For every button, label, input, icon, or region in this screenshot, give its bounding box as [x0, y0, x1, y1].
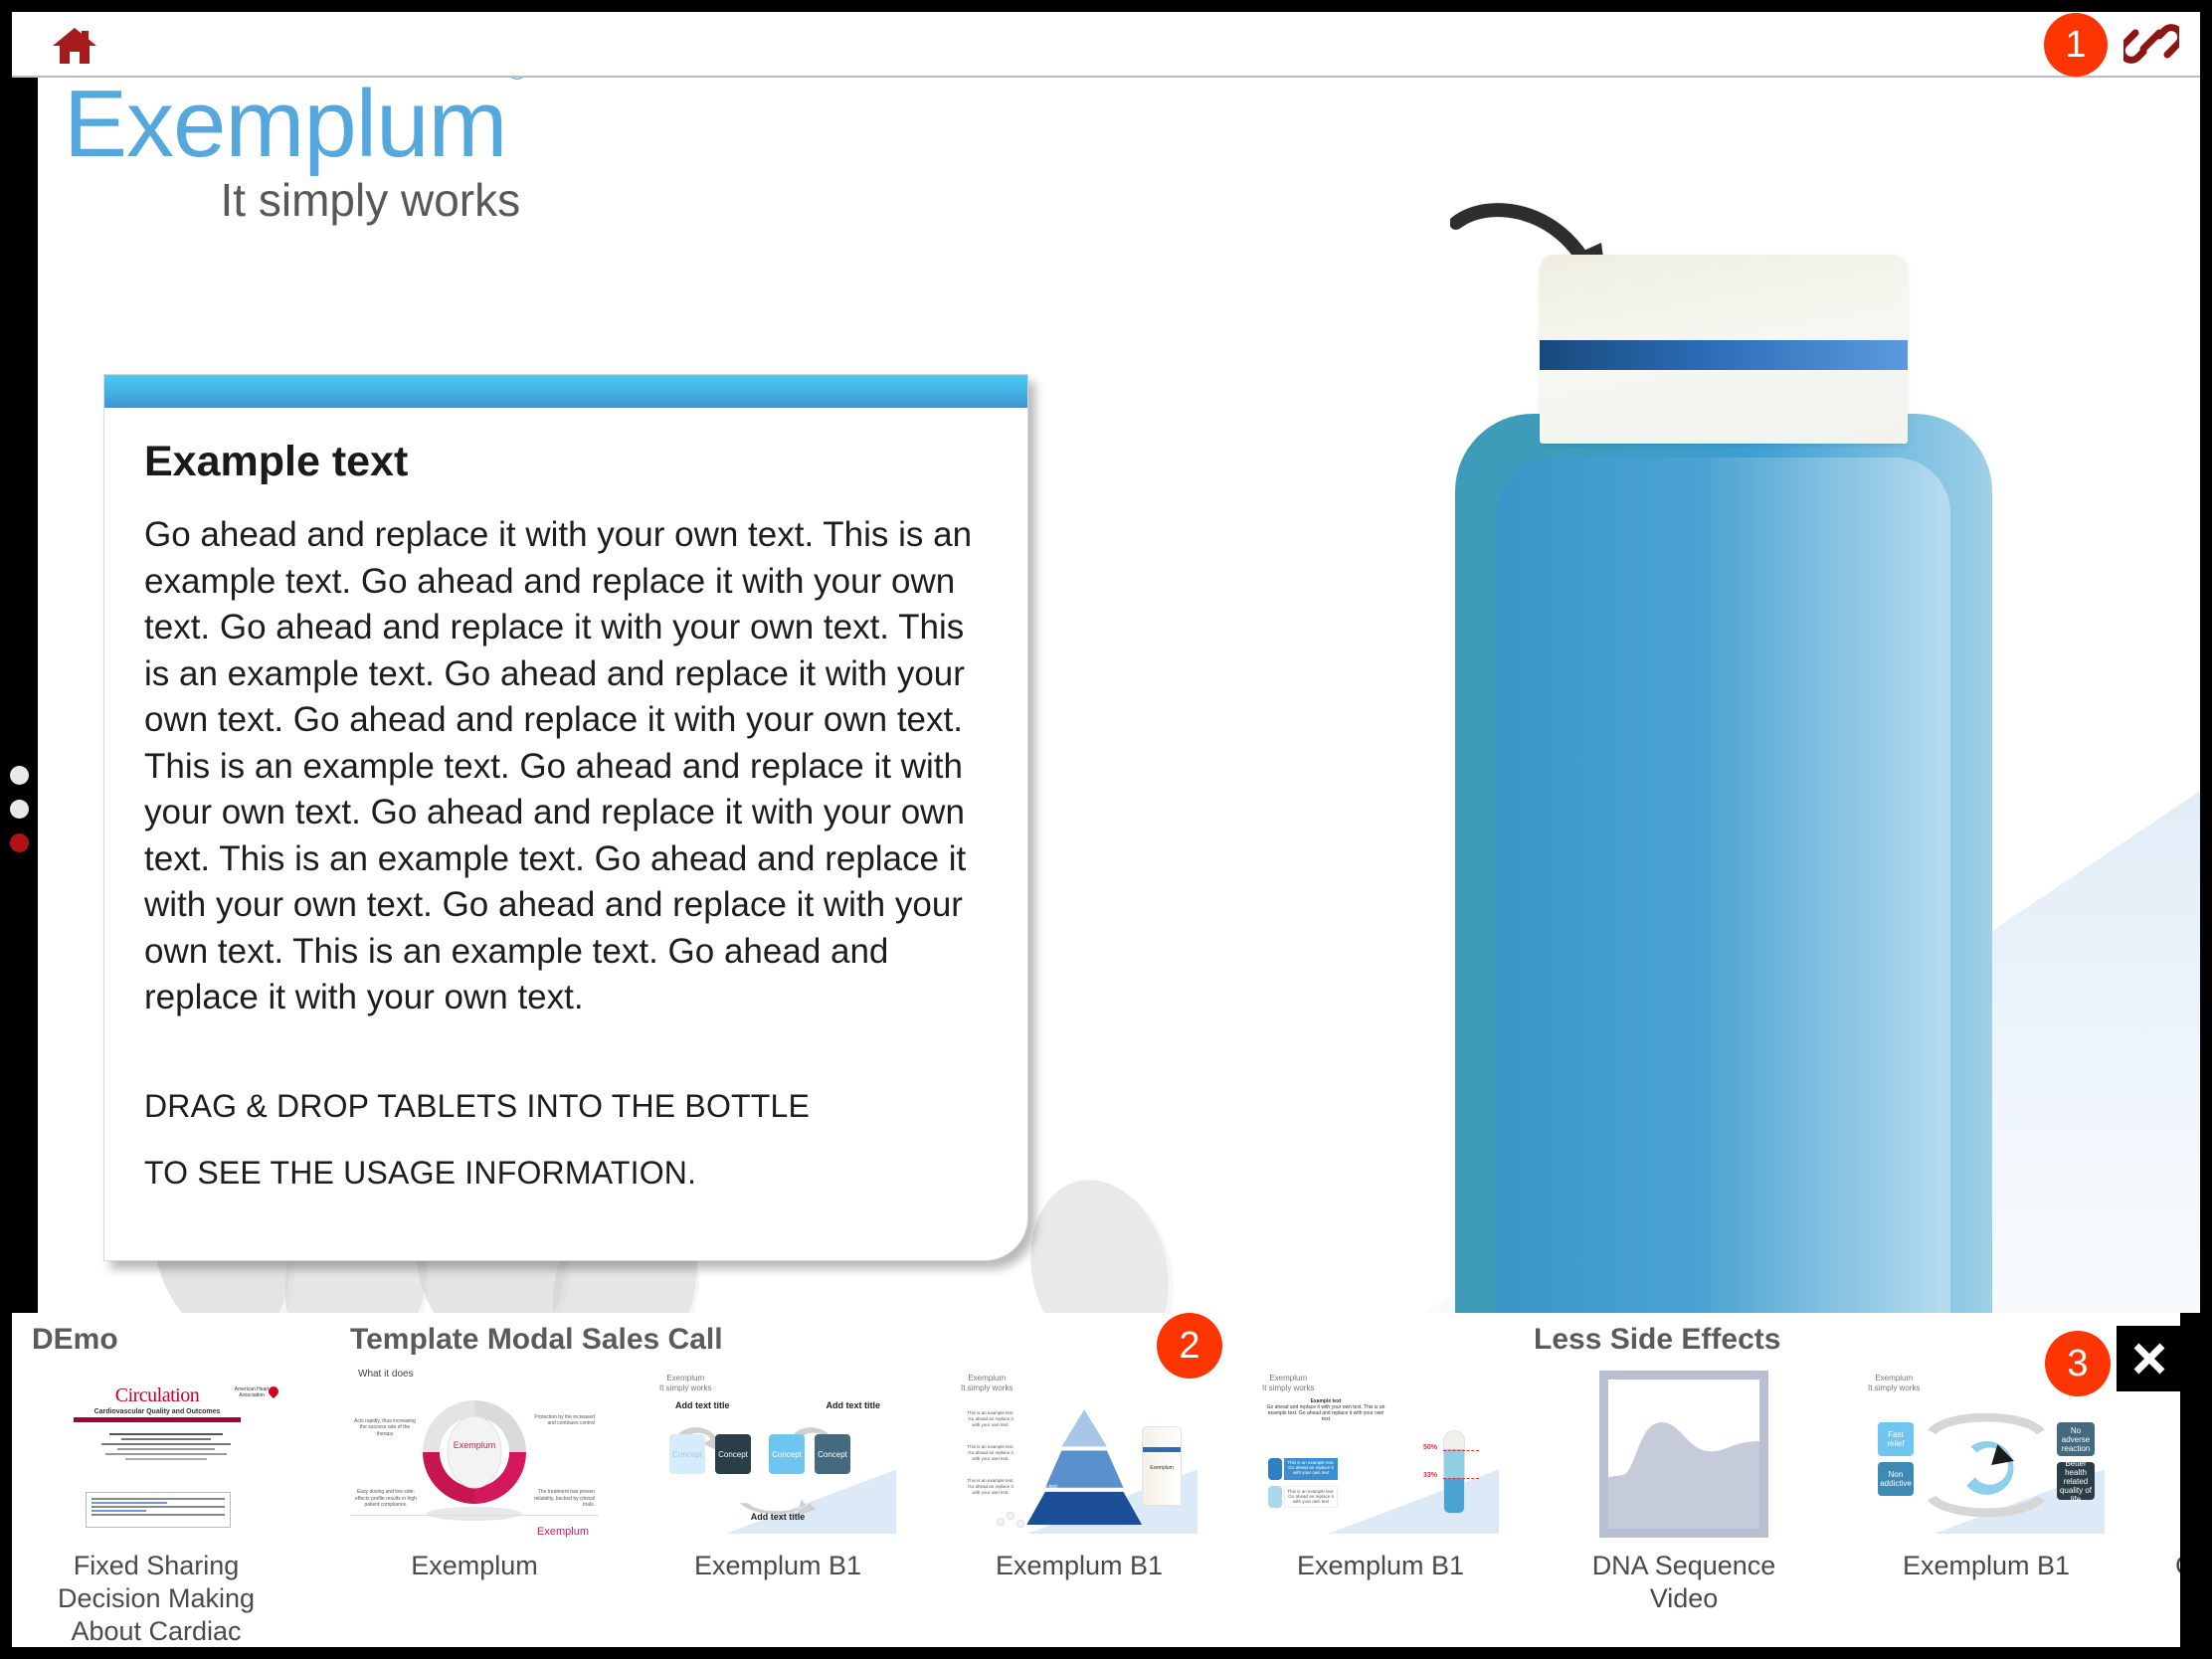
slide-filmstrip[interactable]: DEmo Template Modal Sales Call Less Side… — [12, 1313, 2180, 1647]
thumb-pyramid-bottle: ExemplumIt simply works Example text Exa… — [955, 1363, 1203, 1542]
pagination-dot-1[interactable] — [10, 766, 29, 785]
filmstrip-item-label: Genera respon different — [2140, 1550, 2180, 1615]
thumb-text: Example text — [1030, 1450, 1059, 1456]
bottle-body — [1455, 414, 1992, 1313]
filmstrip-item-label: Exemplum B1 — [1256, 1550, 1505, 1582]
thumb-brand: ExemplumIt simply works — [1868, 1369, 1920, 1392]
thumb-box: Fast relief — [1878, 1422, 1914, 1456]
thumb-text: This is an example text. Go ahead an rep… — [965, 1410, 1016, 1428]
slide-canvas: Exemplum® It simply works Example text G… — [38, 78, 2200, 1313]
thumb-box: Concept — [815, 1434, 850, 1474]
thumb-pct: 33% — [1423, 1472, 1437, 1479]
tablet-watermark — [1013, 1165, 1188, 1313]
placeholder-frame — [1599, 1371, 1768, 1538]
journal-title: Circulation — [74, 1384, 241, 1407]
pagination-dot-3-active[interactable] — [10, 833, 29, 852]
donut-center-label: Exemplum — [446, 1440, 503, 1450]
thumb-brand: ExemplumIt simply works — [659, 1369, 711, 1392]
thumb-text: Add text title — [659, 1512, 896, 1522]
thumb-concept-arrows: ExemplumIt simply works Add text title A… — [653, 1363, 902, 1542]
thumb-box: No adverse reaction — [2057, 1422, 2095, 1456]
top-toolbar — [12, 12, 2200, 78]
thumb-text: This is an example text. Go ahead an rep… — [1284, 1458, 1338, 1480]
filmstrip-item-label: Exemplum B1 — [653, 1550, 902, 1582]
thumb-circular-diagram: What it does Exemplum Acts rapidly, thus… — [350, 1363, 599, 1542]
thumb-text: Example textGo ahead and replace it with… — [1266, 1398, 1385, 1422]
thumb-brand: Exemplum — [537, 1526, 589, 1538]
drag-drop-instruction-line-1: DRAG & DROP TABLETS INTO THE BOTTLE — [144, 1073, 982, 1140]
app-root: Exemplum® It simply works Example text G… — [0, 0, 2212, 1659]
filmstrip-item-pyramid[interactable]: ExemplumIt simply works Example text Exa… — [955, 1363, 1203, 1582]
journal-subtitle: Cardiovascular Quality and Outcomes — [74, 1408, 241, 1415]
thumb-box: Concept — [669, 1434, 705, 1474]
thumb-text: Example text — [1028, 1484, 1057, 1490]
thumb-box: Concept — [769, 1434, 805, 1474]
filmstrip-item-label: Exemplum — [350, 1550, 599, 1582]
filmstrip-group-title-side-effects: Less Side Effects — [1534, 1323, 1780, 1357]
thumb-canvas: Add text title Add text title Concept Co… — [659, 1396, 896, 1534]
filmstrip-track[interactable]: DEmo Template Modal Sales Call Less Side… — [12, 1313, 2180, 1647]
callout-text: Protection by the increased and continue… — [533, 1414, 595, 1427]
thumb-text: This is an example text. Go ahead an rep… — [1284, 1486, 1338, 1508]
filmstrip-item-truncated[interactable]: Genera respon different — [2140, 1363, 2180, 1615]
thumb-box: Concept — [715, 1434, 751, 1474]
filmstrip-item-tube[interactable]: ExemplumIt simply works Example textGo a… — [1256, 1363, 1505, 1582]
thumb-canvas: Example textGo ahead and replace it with… — [1262, 1396, 1499, 1534]
thumb-box — [1268, 1486, 1282, 1508]
thumb-box: Non addictive — [1878, 1462, 1914, 1496]
brand-logo: Exemplum® It simply works — [64, 78, 526, 227]
journal-abstract-box — [86, 1492, 231, 1528]
bottle-cap — [1540, 255, 1908, 444]
thumb-box — [1268, 1458, 1282, 1480]
filmstrip-item-journal[interactable]: Circulation Cardiovascular Quality and O… — [32, 1363, 280, 1647]
thumb-tube-percent: ExemplumIt simply works Example textGo a… — [1256, 1363, 1505, 1542]
window-frame-left — [0, 78, 38, 1313]
thumb-brand: ExemplumIt simply works — [961, 1369, 1013, 1392]
step-badge-3: 3 — [2045, 1331, 2111, 1396]
thumb-pct: 50% — [1423, 1444, 1437, 1451]
filmstrip-item-exemplum-circle[interactable]: What it does Exemplum Acts rapidly, thus… — [350, 1363, 599, 1582]
filmstrip-item-label: Exemplum B1 — [1862, 1550, 2111, 1582]
info-card-body: Go ahead and replace it with your own te… — [144, 512, 982, 1021]
thumb-text: This is an example text. Go ahead an rep… — [965, 1478, 1016, 1496]
filmstrip-item-label: Fixed Sharing Decision Making About Card… — [32, 1550, 280, 1647]
filmstrip-item-dna-video[interactable]: DNA Sequence Video — [1560, 1363, 1808, 1615]
step-badge-2: 2 — [1157, 1313, 1222, 1379]
thumb-canvas: Example text Example text Example text T… — [961, 1396, 1198, 1534]
bottle-cap-stripe — [1540, 340, 1908, 370]
thumb-text: This is an example text. Go ahead an rep… — [965, 1444, 1016, 1462]
image-placeholder-icon — [1608, 1380, 1759, 1529]
thumb-bottle-icon: Exemplum — [1142, 1426, 1182, 1506]
thumb-box: Better health related quality of life — [2057, 1462, 2095, 1500]
pagination-dot-2[interactable] — [10, 800, 29, 819]
home-icon[interactable] — [52, 26, 97, 66]
thumb-canvas: Fast relief Non addictive No adverse rea… — [1868, 1396, 2105, 1534]
close-button[interactable] — [2117, 1326, 2182, 1391]
info-card: Example text Go ahead and replace it wit… — [103, 374, 1028, 1261]
thumb-tube-icon — [1443, 1430, 1465, 1514]
filmstrip-item-concept-arrows[interactable]: ExemplumIt simply works Add text title A… — [653, 1363, 902, 1582]
thumb-text: Example text — [1034, 1420, 1063, 1426]
thumb-journal-article: Circulation Cardiovascular Quality and O… — [32, 1363, 280, 1542]
pagination-dots[interactable] — [10, 766, 29, 867]
info-card-title: Example text — [144, 438, 982, 486]
callout-text: Acts rapidly, thus increasing the succes… — [354, 1418, 416, 1437]
thumb-brand: ExemplumIt simply works — [1262, 1369, 1314, 1392]
filmstrip-item-label: DNA Sequence Video — [1560, 1550, 1808, 1615]
filmstrip-group-title-demo: DEmo — [32, 1323, 118, 1357]
window-frame-top — [0, 0, 2212, 12]
callout-text: The treatment has proven reliability, ba… — [531, 1489, 595, 1508]
filmstrip-item-label: Exemplum B1 — [955, 1550, 1203, 1582]
registered-mark: ® — [506, 78, 526, 86]
filmstrip-group-title-template: Template Modal Sales Call — [350, 1323, 723, 1357]
brand-name: Exemplum® — [64, 78, 526, 179]
thumb-image-placeholder — [1560, 1363, 1808, 1542]
product-bottle[interactable] — [1455, 255, 1992, 1313]
link-icon[interactable] — [2123, 18, 2179, 70]
close-icon — [2129, 1339, 2169, 1379]
step-badge-1: 1 — [2044, 13, 2108, 77]
brand-tagline: It simply works — [64, 173, 526, 227]
journal-rule — [74, 1417, 241, 1422]
callout-text: Easy dosing and low side-effects profile… — [354, 1489, 418, 1508]
drag-drop-instruction-line-2: TO SEE THE USAGE INFORMATION. — [144, 1140, 982, 1206]
bottle-body-highlight — [1497, 458, 1950, 1313]
info-card-header-bar — [104, 375, 1027, 408]
